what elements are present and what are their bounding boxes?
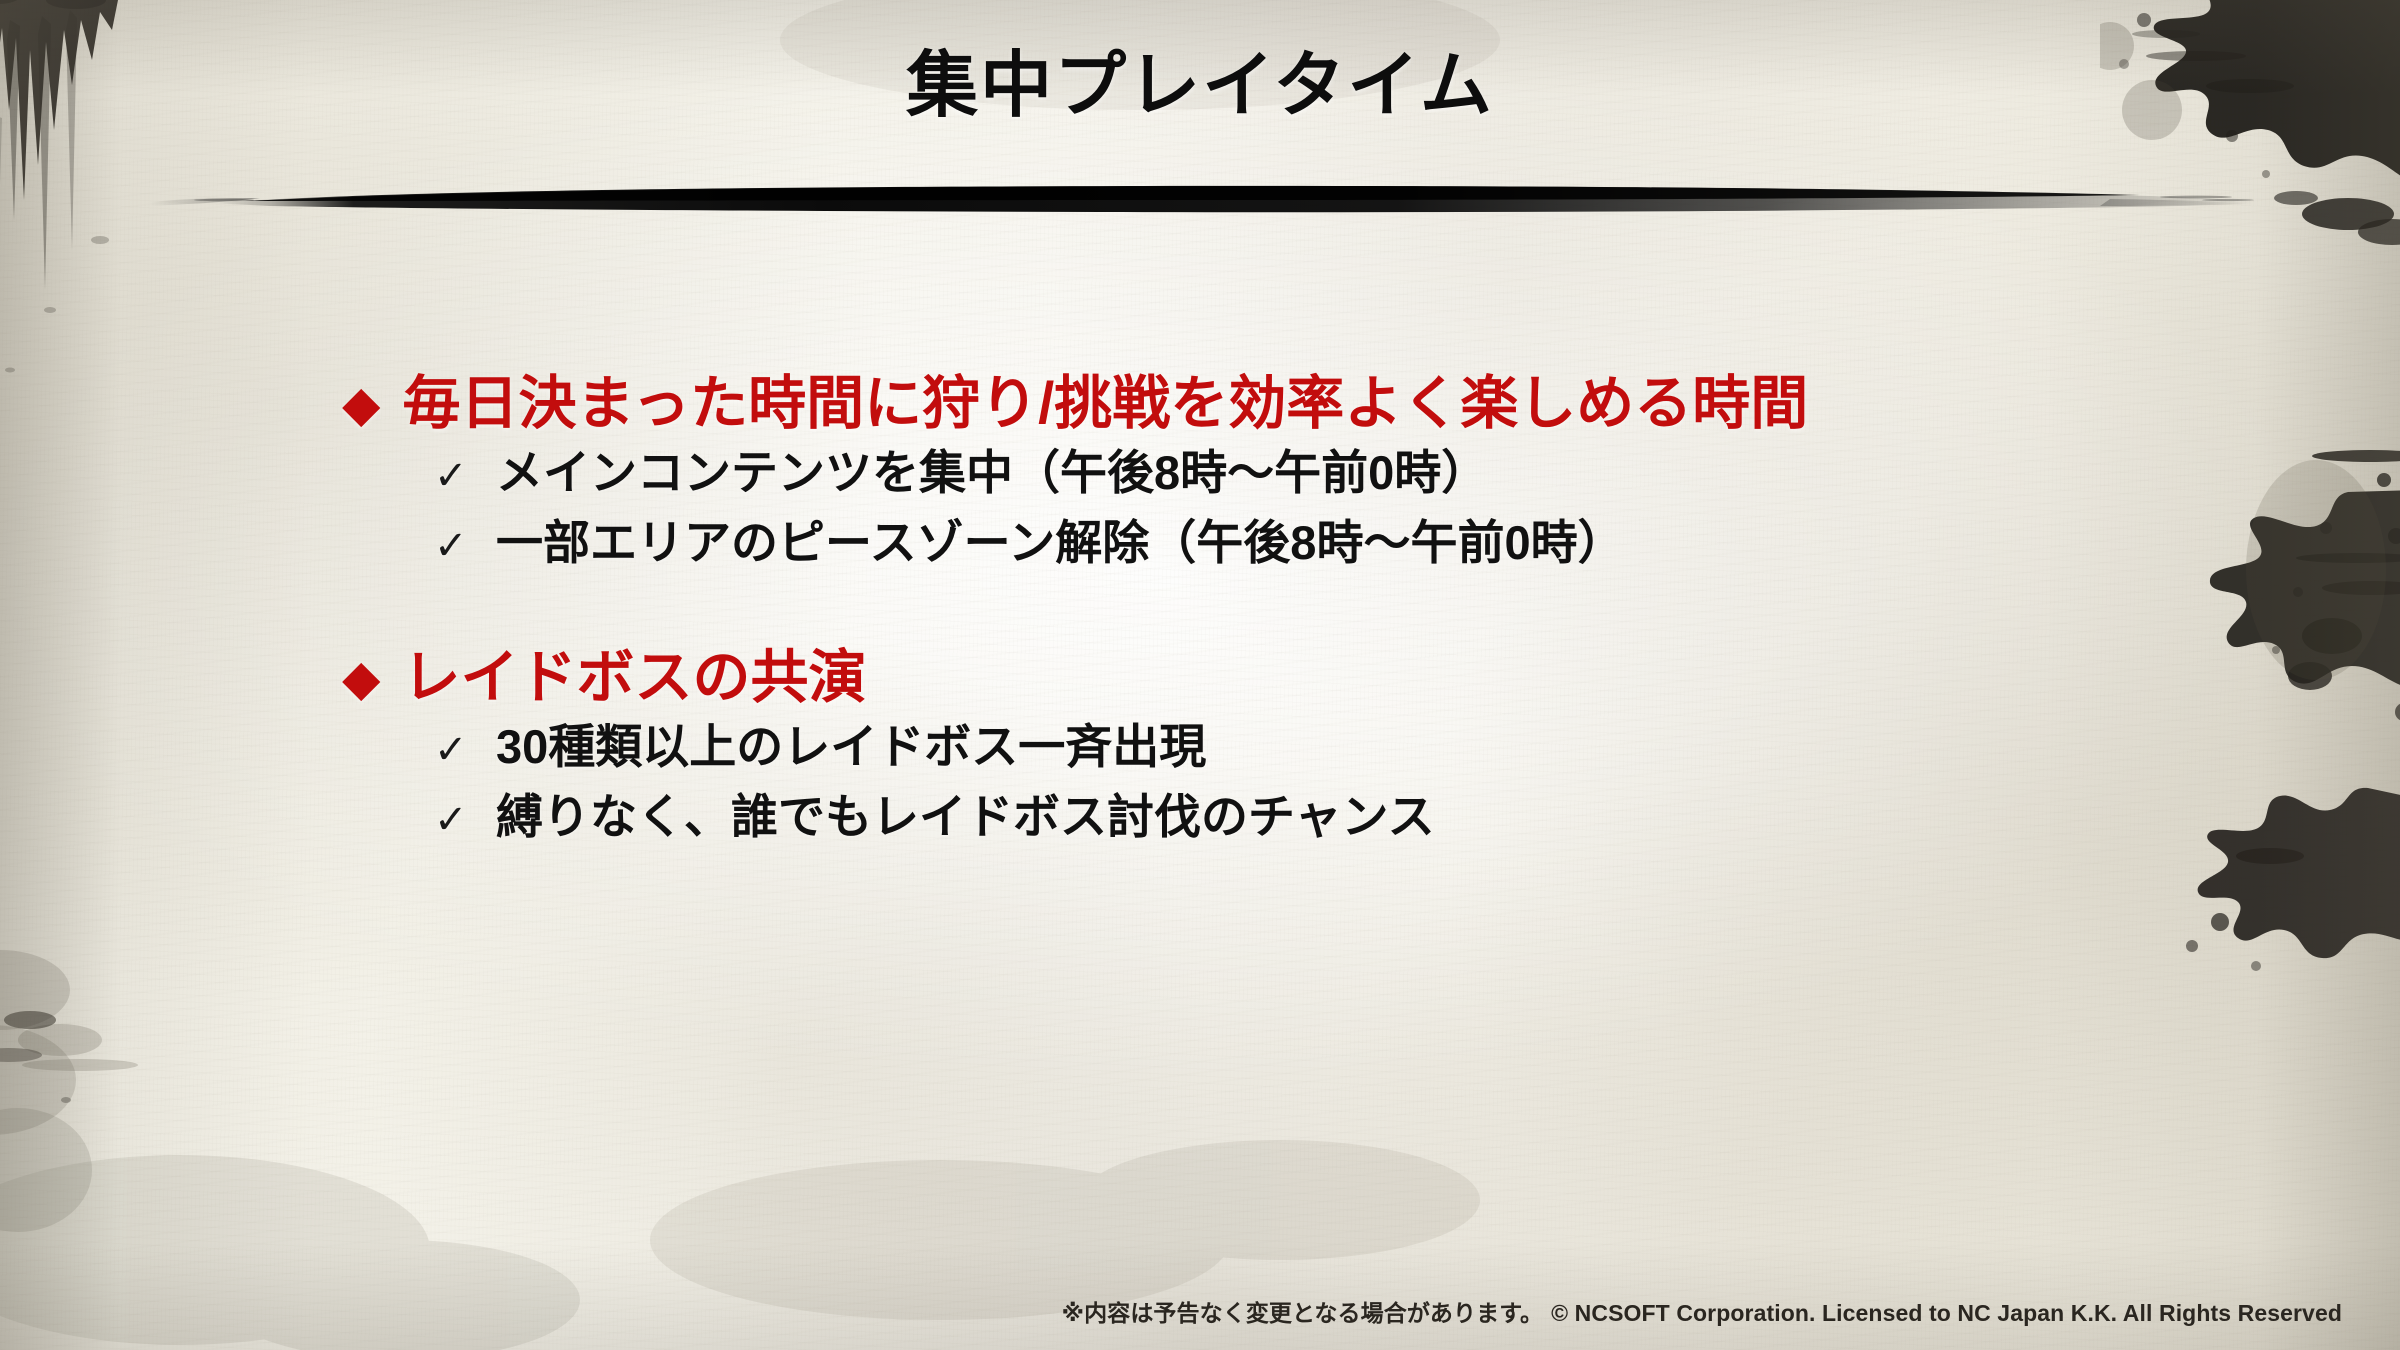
list-item-label: 縛りなく、誰でもレイドボス討伐のチャンス xyxy=(496,782,1435,852)
headline-text: レイドボスの共演 xyxy=(402,644,866,712)
footer-legal: ※内容は予告なく変更となる場合があります。© NCSOFT Corporatio… xyxy=(1062,1294,2342,1328)
footer-note: ※内容は予告なく変更となる場合があります。 xyxy=(1062,1300,1543,1326)
list-item: ✓ 縛りなく、誰でもレイドボス討伐のチャンス xyxy=(0,782,2400,852)
slide-root: 集中プレイタイム xyxy=(0,0,2400,1350)
ink-wash-bottom-left xyxy=(0,1060,640,1350)
slide-body: ◆ 毎日決まった時間に狩り/挑戦を効率よく楽しめる時間 ✓ メインコンテンツを集… xyxy=(0,370,2400,851)
check-icon: ✓ xyxy=(434,721,496,780)
headline-text: 毎日決まった時間に狩り/挑戦を効率よく楽しめる時間 xyxy=(402,370,1808,438)
list-item-label: メインコンテンツを集中（午後8時～午前0時） xyxy=(496,438,1488,508)
diamond-bullet-icon: ◆ xyxy=(342,653,380,703)
slide-title: 集中プレイタイム xyxy=(0,26,2400,131)
group-headline: ◆ 毎日決まった時間に狩り/挑戦を効率よく楽しめる時間 xyxy=(0,370,2400,438)
group-headline: ◆ レイドボスの共演 xyxy=(0,644,2400,712)
ink-smudge-left-lower xyxy=(0,870,190,1290)
check-icon: ✓ xyxy=(434,517,496,576)
content-group-2: ◆ レイドボスの共演 ✓ 30種類以上のレイドボス一斉出現 ✓ 縛りなく、誰でも… xyxy=(0,644,2400,852)
check-icon: ✓ xyxy=(434,447,496,506)
list-item: ✓ メインコンテンツを集中（午後8時～午前0時） xyxy=(0,438,2400,508)
footer-copyright: © NCSOFT Corporation. Licensed to NC Jap… xyxy=(1551,1300,2342,1326)
list-item: ✓ 一部エリアのピースゾーン解除（午後8時～午前0時） xyxy=(0,508,2400,578)
list-item-label: 30種類以上のレイドボス一斉出現 xyxy=(496,712,1206,782)
diamond-bullet-icon: ◆ xyxy=(342,379,380,429)
content-group-1: ◆ 毎日決まった時間に狩り/挑戦を効率よく楽しめる時間 ✓ メインコンテンツを集… xyxy=(0,370,2400,578)
brush-divider xyxy=(150,176,2260,222)
check-icon: ✓ xyxy=(434,791,496,850)
list-item: ✓ 30種類以上のレイドボス一斉出現 xyxy=(0,712,2400,782)
list-item-label: 一部エリアのピースゾーン解除（午後8時～午前0時） xyxy=(496,508,1625,578)
